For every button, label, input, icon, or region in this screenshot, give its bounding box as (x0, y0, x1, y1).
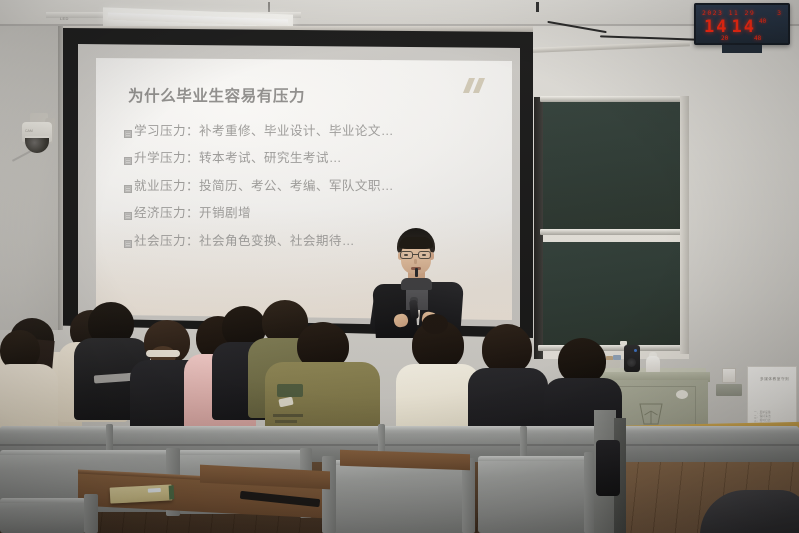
list-item: 升学压力：转本考试、研究生考试… (124, 151, 494, 165)
speaker-led-indicator (634, 349, 637, 352)
bullet-label: 学习压力：补考重修、毕业设计、毕业论文… (134, 124, 394, 138)
presenter-nose (414, 259, 417, 264)
list-item: 经济压力：开销剧增 (124, 206, 494, 220)
chair-back-foreground (478, 458, 590, 533)
chair-top-edge (178, 450, 306, 455)
slide-title: 为什么毕业生容易有压力 (128, 84, 305, 106)
blackboard-right-edge (680, 96, 689, 354)
clock-hours: 14 (704, 17, 728, 37)
list-item: 就业压力：投简历、考公、考编、军队文职… (124, 179, 494, 193)
clock-date: 2023 11 29 (702, 9, 755, 17)
blackboard-chalk-rail (540, 229, 685, 235)
bullet-label: 社会压力：社会角色变换、社会期待… (134, 234, 355, 248)
bench-groove (0, 444, 799, 446)
podium-sticker (676, 390, 688, 399)
camera-label: CAM (25, 129, 33, 133)
jacket-text (275, 420, 297, 423)
bullet-square-icon (124, 240, 132, 248)
bullet-square-icon (124, 185, 132, 193)
blackboard-left-edge (534, 97, 543, 359)
presenter-collar (401, 278, 432, 290)
blackboard-panel-lower (543, 242, 680, 347)
presenter-fringe (399, 237, 433, 249)
notebook-label (148, 488, 161, 493)
student-body (0, 364, 58, 434)
jacket-text (273, 414, 303, 417)
dark-bag (596, 440, 620, 496)
clock-weekday: 3 (777, 9, 781, 17)
light-suspension-rod (536, 2, 539, 12)
digital-wall-clock: 2023 11 29 3 14 14 40 20 48 (694, 3, 790, 45)
sign-title: 多媒体教室守则 (760, 377, 789, 382)
bullet-label: 升学压力：转本考试、研究生考试… (134, 151, 342, 165)
speaker-grille (627, 358, 636, 367)
clock-seconds: 40 (759, 18, 766, 25)
notebook-spine (169, 485, 175, 500)
left-wall (0, 0, 62, 330)
classroom-photo: LED CAM 为什么毕业生容易有压力 学习压力：补考重修、毕业设计、毕业论文…… (0, 0, 799, 533)
blackboard-rail (540, 96, 685, 102)
bullet-label: 就业压力：投简历、考公、考编、军队文职… (134, 179, 394, 193)
clock-sub-right: 48 (754, 35, 761, 42)
hair-bun (422, 314, 448, 334)
bullet-square-icon (124, 157, 132, 165)
clock-sub-left: 20 (721, 35, 728, 42)
list-item: 学习压力：补考重修、毕业设计、毕业论文… (124, 124, 494, 138)
bullet-square-icon (124, 130, 132, 138)
chair-back-foreground (0, 500, 86, 533)
chair-divider (322, 456, 336, 533)
jacket-patch (277, 384, 303, 397)
hair-tie (146, 350, 180, 357)
light-brand-label: LED (60, 16, 69, 21)
student-head (482, 324, 532, 374)
chair-back-foreground (332, 462, 468, 533)
chair-armrest (84, 494, 98, 533)
notebook (110, 484, 173, 503)
clock-bracket (722, 45, 762, 53)
chair-top-edge (478, 456, 590, 461)
wall-socket-plate (722, 368, 736, 383)
bench-top-edge (0, 426, 799, 431)
wall-mounted-device (716, 384, 742, 396)
chair-top-edge (0, 498, 86, 503)
lapel-mic (415, 268, 418, 277)
student (0, 330, 58, 430)
bullet-label: 经济压力：开销剧增 (134, 206, 251, 220)
wall-corner-edge (58, 0, 63, 330)
clock-minutes: 14 (731, 17, 755, 37)
bullet-square-icon (124, 212, 132, 220)
chair-top-edge (0, 450, 170, 455)
double-slash-icon (464, 78, 488, 93)
blackboard-panel-upper (543, 100, 680, 229)
